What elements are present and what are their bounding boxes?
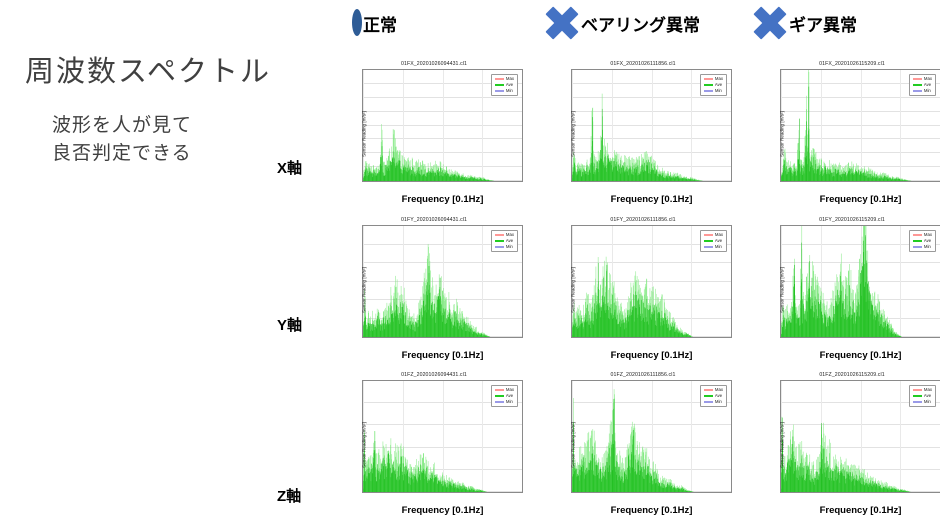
legend-entry: Min bbox=[495, 89, 514, 93]
plot-area: 0.00.10.20.30.40.50.60.70.80500010000150… bbox=[780, 69, 940, 182]
plot-area: 0.00.10.20.30.40.50.60.70.80500010000150… bbox=[571, 69, 732, 182]
chart-legend: MaxAveMin bbox=[700, 230, 727, 252]
cross-icon bbox=[752, 5, 788, 41]
spectrum-chart-x-gear: 01FX_20201026115209.cl10.00.10.20.30.40.… bbox=[754, 58, 940, 210]
legend-label: Max bbox=[715, 77, 723, 81]
plot-area: 0.00.10.20.30.40.505000100001500020000 M… bbox=[362, 380, 523, 493]
legend-entry: Max bbox=[495, 233, 514, 237]
legend-label: Max bbox=[506, 233, 514, 237]
y-axis-label: Sensor Reading [m/s²] bbox=[361, 267, 366, 313]
chart-legend: MaxAveMin bbox=[491, 230, 518, 252]
legend-entry: Ave bbox=[704, 394, 723, 398]
x-axis-label: Frequency [0.1Hz] bbox=[571, 350, 732, 361]
legend-swatch bbox=[913, 90, 922, 92]
y-axis-label: Sensor Reading [m/s²] bbox=[779, 111, 784, 157]
chart-title: 01FY_20201026111856.cl1 bbox=[545, 217, 741, 223]
chart-legend: MaxAveMin bbox=[491, 74, 518, 96]
legend-label: Ave bbox=[924, 394, 931, 398]
legend-entry: Max bbox=[913, 388, 932, 392]
legend-swatch bbox=[495, 395, 504, 397]
legend-swatch bbox=[495, 90, 504, 92]
column-header-normal: 正常 bbox=[352, 2, 397, 44]
x-axis-label: Frequency [0.1Hz] bbox=[362, 350, 523, 361]
legend-label: Min bbox=[715, 89, 722, 93]
chart-title: 01FZ_20201026111856.cl1 bbox=[545, 372, 741, 378]
gridline-vertical: 20000 bbox=[731, 381, 732, 492]
legend-label: Ave bbox=[924, 239, 931, 243]
legend-label: Max bbox=[506, 77, 514, 81]
legend-label: Ave bbox=[506, 83, 513, 87]
legend-swatch bbox=[913, 401, 922, 403]
legend-swatch bbox=[704, 401, 713, 403]
x-axis-label: Frequency [0.1Hz] bbox=[780, 505, 940, 516]
legend-label: Min bbox=[924, 400, 931, 404]
legend-swatch bbox=[913, 389, 922, 391]
column-label: ギア異常 bbox=[789, 11, 857, 36]
legend-entry: Max bbox=[704, 388, 723, 392]
legend-label: Ave bbox=[715, 83, 722, 87]
legend-entry: Max bbox=[495, 77, 514, 81]
legend-swatch bbox=[913, 240, 922, 242]
x-axis-label: Frequency [0.1Hz] bbox=[362, 194, 523, 205]
legend-swatch bbox=[704, 389, 713, 391]
y-axis-label: Sensor Reading [m/s²] bbox=[361, 111, 366, 157]
spectrum-chart-y-bearing: 01FY_20201026111856.cl10.000.050.100.150… bbox=[545, 214, 741, 366]
legend-swatch bbox=[495, 389, 504, 391]
legend-entry: Max bbox=[913, 77, 932, 81]
legend-swatch bbox=[913, 246, 922, 248]
y-axis-label: Sensor Reading [m/s²] bbox=[361, 422, 366, 468]
x-axis-label: Frequency [0.1Hz] bbox=[571, 505, 732, 516]
cross-icon bbox=[544, 5, 580, 41]
x-axis-label: Frequency [0.1Hz] bbox=[780, 194, 940, 205]
column-header-gear-fault: ギア異常 bbox=[752, 2, 857, 44]
chart-title: 01FX_20201026094431.cl1 bbox=[336, 61, 532, 67]
legend-entry: Ave bbox=[913, 83, 932, 87]
legend-label: Max bbox=[924, 388, 932, 392]
legend-label: Max bbox=[924, 77, 932, 81]
legend-label: Ave bbox=[924, 83, 931, 87]
spectrum-chart-z-normal: 01FZ_20201026094431.cl10.00.10.20.30.40.… bbox=[336, 369, 532, 521]
legend-swatch bbox=[704, 234, 713, 236]
y-axis-label: Sensor Reading [m/s²] bbox=[570, 267, 575, 313]
chart-title: 01FX_20201026115209.cl1 bbox=[754, 61, 940, 67]
legend-entry: Max bbox=[704, 233, 723, 237]
legend-label: Max bbox=[924, 233, 932, 237]
legend-label: Max bbox=[715, 233, 723, 237]
legend-label: Min bbox=[715, 245, 722, 249]
plot-area: 0.00.10.20.30.40.505000100001500020000 M… bbox=[571, 380, 732, 493]
legend-swatch bbox=[704, 246, 713, 248]
gridline-vertical: 20000 bbox=[522, 70, 523, 181]
legend-label: Ave bbox=[506, 394, 513, 398]
legend-entry: Min bbox=[495, 400, 514, 404]
legend-swatch bbox=[913, 395, 922, 397]
plot-area: 0.000.050.100.150.200.250.30050001000015… bbox=[780, 225, 940, 338]
chart-title: 01FZ_20201026115209.cl1 bbox=[754, 372, 940, 378]
legend-swatch bbox=[913, 78, 922, 80]
spectrum-chart-z-bearing: 01FZ_20201026111856.cl10.00.10.20.30.40.… bbox=[545, 369, 741, 521]
legend-entry: Max bbox=[913, 233, 932, 237]
y-axis-label: Sensor Reading [m/s²] bbox=[570, 422, 575, 468]
x-axis-label: Frequency [0.1Hz] bbox=[780, 350, 940, 361]
column-label: ベアリング異常 bbox=[581, 11, 700, 36]
chart-title: 01FZ_20201026094431.cl1 bbox=[336, 372, 532, 378]
chart-legend: MaxAveMin bbox=[491, 385, 518, 407]
y-axis-label: Sensor Reading [m/s²] bbox=[779, 267, 784, 313]
spectrum-chart-y-gear: 01FY_20201026115209.cl10.000.050.100.150… bbox=[754, 214, 940, 366]
legend-entry: Min bbox=[704, 400, 723, 404]
chart-title: 01FY_20201026094431.cl1 bbox=[336, 217, 532, 223]
legend-label: Ave bbox=[715, 394, 722, 398]
gridline-vertical: 20000 bbox=[731, 226, 732, 337]
legend-swatch bbox=[495, 401, 504, 403]
legend-label: Min bbox=[506, 89, 513, 93]
legend-entry: Ave bbox=[913, 394, 932, 398]
legend-entry: Max bbox=[495, 388, 514, 392]
legend-swatch bbox=[704, 90, 713, 92]
legend-label: Min bbox=[924, 89, 931, 93]
legend-swatch bbox=[495, 234, 504, 236]
legend-swatch bbox=[495, 84, 504, 86]
legend-swatch bbox=[913, 84, 922, 86]
gridline-vertical: 20000 bbox=[522, 381, 523, 492]
legend-entry: Ave bbox=[704, 239, 723, 243]
page-title: 周波数スペクトル bbox=[25, 48, 325, 90]
chart-legend: MaxAveMin bbox=[700, 385, 727, 407]
row-label-z-axis: Z軸 bbox=[277, 485, 337, 506]
legend-entry: Min bbox=[495, 245, 514, 249]
circle-icon bbox=[352, 14, 362, 32]
legend-label: Ave bbox=[715, 239, 722, 243]
legend-label: Ave bbox=[506, 239, 513, 243]
legend-label: Min bbox=[506, 245, 513, 249]
plot-area: 0.000.050.100.150.200.250.30050001000015… bbox=[571, 225, 732, 338]
legend-label: Min bbox=[924, 245, 931, 249]
legend-entry: Min bbox=[913, 245, 932, 249]
legend-label: Max bbox=[506, 388, 514, 392]
legend-swatch bbox=[704, 78, 713, 80]
chart-legend: MaxAveMin bbox=[909, 230, 936, 252]
chart-title: 01FX_20201026111856.cl1 bbox=[545, 61, 741, 67]
legend-entry: Min bbox=[704, 89, 723, 93]
chart-legend: MaxAveMin bbox=[909, 74, 936, 96]
legend-swatch bbox=[913, 234, 922, 236]
legend-swatch bbox=[704, 84, 713, 86]
column-header-bearing-fault: ベアリング異常 bbox=[544, 2, 700, 44]
gridline-vertical: 20000 bbox=[731, 70, 732, 181]
legend-entry: Min bbox=[913, 89, 932, 93]
y-axis-label: Sensor Reading [m/s²] bbox=[570, 111, 575, 157]
legend-label: Min bbox=[506, 400, 513, 404]
legend-swatch bbox=[495, 246, 504, 248]
legend-entry: Min bbox=[913, 400, 932, 404]
plot-area: 0.00.10.20.30.40.505000100001500020000 M… bbox=[780, 380, 940, 493]
legend-swatch bbox=[704, 240, 713, 242]
legend-entry: Ave bbox=[913, 239, 932, 243]
x-axis-label: Frequency [0.1Hz] bbox=[362, 505, 523, 516]
x-axis-label: Frequency [0.1Hz] bbox=[571, 194, 732, 205]
y-axis-label: Sensor Reading [m/s²] bbox=[779, 422, 784, 468]
subtitle-text: 波形を人が見て良否判定できる bbox=[52, 112, 292, 167]
legend-entry: Ave bbox=[704, 83, 723, 87]
legend-entry: Ave bbox=[495, 394, 514, 398]
legend-swatch bbox=[495, 78, 504, 80]
legend-label: Min bbox=[715, 400, 722, 404]
spectrum-chart-x-bearing: 01FX_20201026111856.cl10.00.10.20.30.40.… bbox=[545, 58, 741, 210]
gridline-vertical: 20000 bbox=[522, 226, 523, 337]
chart-title: 01FY_20201026115209.cl1 bbox=[754, 217, 940, 223]
column-label: 正常 bbox=[363, 11, 397, 36]
chart-legend: MaxAveMin bbox=[700, 74, 727, 96]
row-label-y-axis: Y軸 bbox=[277, 314, 337, 335]
legend-entry: Min bbox=[704, 245, 723, 249]
plot-area: 0.00.10.20.30.40.50.60.70.80500010000150… bbox=[362, 69, 523, 182]
spectrum-chart-y-normal: 01FY_20201026094431.cl10.000.050.100.150… bbox=[336, 214, 532, 366]
legend-entry: Max bbox=[704, 77, 723, 81]
legend-swatch bbox=[704, 395, 713, 397]
legend-entry: Ave bbox=[495, 83, 514, 87]
legend-swatch bbox=[495, 240, 504, 242]
legend-label: Max bbox=[715, 388, 723, 392]
spectrum-chart-z-gear: 01FZ_20201026115209.cl10.00.10.20.30.40.… bbox=[754, 369, 940, 521]
spectrum-chart-x-normal: 01FX_20201026094431.cl10.00.10.20.30.40.… bbox=[336, 58, 532, 210]
plot-area: 0.000.050.100.150.200.250.30050001000015… bbox=[362, 225, 523, 338]
chart-legend: MaxAveMin bbox=[909, 385, 936, 407]
legend-entry: Ave bbox=[495, 239, 514, 243]
left-text-panel: 周波数スペクトル 波形を人が見て良否判定できる bbox=[0, 0, 335, 523]
row-label-x-axis: X軸 bbox=[277, 157, 337, 178]
